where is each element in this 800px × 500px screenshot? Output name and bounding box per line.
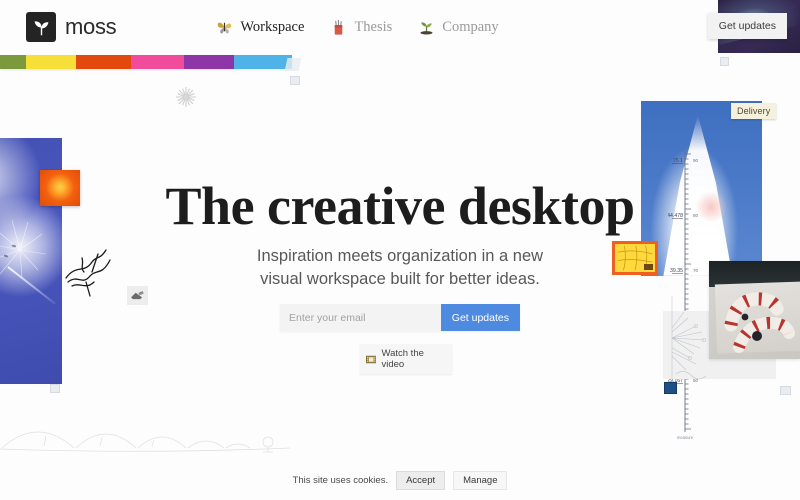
starburst-icon <box>174 85 198 109</box>
butterfly-icon <box>216 19 233 36</box>
ruler-tick-label: 70 <box>693 268 699 273</box>
header-get-updates-button[interactable]: Get updates <box>708 13 787 39</box>
color-bar-segment <box>234 55 292 69</box>
cookie-message: This site uses cookies. <box>293 475 389 486</box>
email-signup-form: Get updates <box>280 304 520 331</box>
map-grid-icon <box>615 244 655 272</box>
seedling-icon <box>418 19 435 36</box>
nav-label-workspace: Workspace <box>240 19 304 36</box>
ruler-value-label: 29.167 <box>668 378 683 384</box>
tool-chip <box>127 286 148 305</box>
nav-item-thesis[interactable]: Thesis <box>330 19 392 36</box>
map-pin-chip <box>644 264 653 270</box>
cookie-accept-button[interactable]: Accept <box>396 471 445 490</box>
pencil-cup-icon <box>330 19 347 36</box>
email-input[interactable] <box>280 304 441 331</box>
cookie-consent-bar: This site uses cookies. Accept Manage <box>0 471 800 490</box>
sprout-leaf-icon <box>26 12 56 42</box>
ruler-tick-label: 60 <box>693 323 699 328</box>
hero-subheadline-line1: Inspiration meets organization in a new <box>257 247 543 265</box>
dandelion-photo <box>0 138 62 384</box>
main-nav: Workspace Thesis Company <box>216 19 498 36</box>
watch-video-link[interactable]: Watch the video <box>360 344 452 374</box>
striped-tubes-illustration <box>709 261 800 359</box>
plant-diagram-sketch <box>662 296 732 392</box>
color-bar-strip <box>0 55 292 69</box>
sketch-arcs <box>0 414 300 476</box>
ruler-tick-label: 50 <box>693 378 699 383</box>
chip-marker-1 <box>720 57 729 66</box>
nav-item-workspace[interactable]: Workspace <box>216 19 304 36</box>
nav-label-company: Company <box>442 19 498 36</box>
page-title: The creative desktop <box>0 179 800 233</box>
color-bar-segment <box>76 55 131 69</box>
ink-scribble <box>62 238 118 300</box>
color-bar-segment <box>0 55 26 69</box>
dandelion-seeds-overlay <box>0 138 62 384</box>
delivery-tag: Delivery <box>731 103 776 119</box>
brand-name: moss <box>65 14 116 40</box>
page-root: Delivery 75.19044.4788039.357034.226029.… <box>0 0 800 500</box>
color-bar-segment <box>26 55 76 69</box>
brand-logo[interactable]: moss <box>26 12 116 42</box>
yellow-map-card <box>612 241 658 275</box>
paintbrush-icon <box>130 290 145 301</box>
ruler-footer-label: measure <box>677 435 694 440</box>
hero-subheadline: Inspiration meets organization in a new … <box>200 245 600 293</box>
chip-marker-3 <box>664 382 677 394</box>
hero-section: The creative desktop Inspiration meets o… <box>0 0 800 500</box>
film-strip-icon <box>366 355 376 364</box>
cookie-manage-button[interactable]: Manage <box>453 471 507 490</box>
chip-marker-2 <box>780 386 791 395</box>
nav-label-thesis: Thesis <box>354 19 392 36</box>
site-header: moss Workspace Thesis <box>0 0 800 54</box>
nav-item-company[interactable]: Company <box>418 19 498 36</box>
ruler-tick-label: 90 <box>693 158 699 163</box>
chip-marker-4 <box>290 76 300 85</box>
watch-video-label: Watch the video <box>381 348 446 370</box>
ruler-value-label: 39.35 <box>670 268 683 274</box>
ruler-value-label: 75.1 <box>673 158 683 164</box>
color-bar-segment <box>184 55 234 69</box>
paper-panel <box>663 311 776 379</box>
lab-photo <box>709 261 800 359</box>
hero-subheadline-line2: visual workspace built for better ideas. <box>260 270 540 288</box>
signup-get-updates-button[interactable]: Get updates <box>441 304 520 331</box>
chip-marker-5 <box>50 384 60 393</box>
ruler-value-label: 34.22 <box>670 323 683 329</box>
color-bar-segment <box>131 55 184 69</box>
